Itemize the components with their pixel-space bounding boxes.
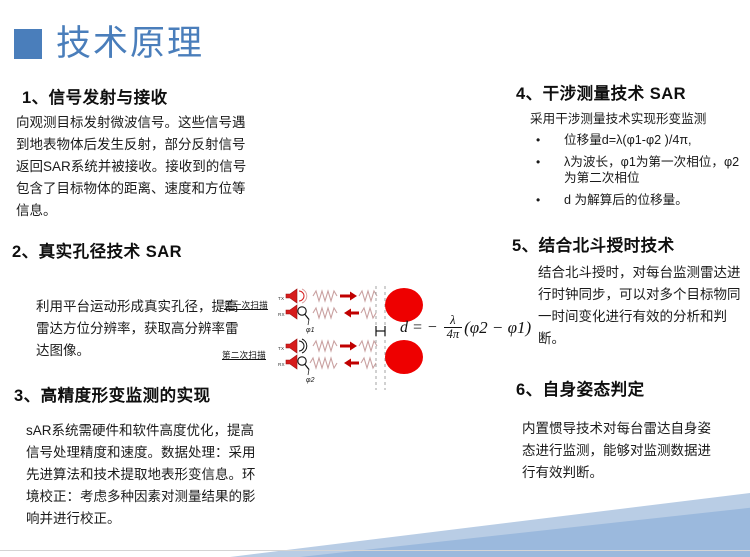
section-body-1: 向观测目标发射微波信号。这些信号遇到地表物体后发生反射，部分反射信号返回SAR系… (16, 112, 252, 222)
tx-speaker-icon-row2 (286, 339, 307, 353)
bullet-dot-icon: • (536, 154, 540, 170)
footer-divider (0, 550, 750, 551)
tx-wave-row1-b (359, 291, 377, 301)
rx-wave-row2 (310, 358, 337, 368)
section-body-5: 结合北斗授时，对每台监测雷达进行时钟同步，可以对多个目标物同一时间变化进行有效的… (538, 262, 744, 350)
rx-wave-row1-b (361, 308, 376, 318)
formula-lhs: d (400, 319, 408, 337)
section-body-6: 内置惯导技术对每台雷达自身姿态进行监测，能够对监测数据进行有效判断。 (522, 418, 722, 484)
rx-arrow-row1 (344, 309, 359, 318)
section-body-4: 采用干涉测量技术实现形变监测 • 位移量d=λ(φ1-φ2 )/4π, • λ为… (530, 110, 742, 214)
list-item: • 位移量d=λ(φ1-φ2 )/4π, (530, 132, 742, 148)
section-heading-6: 6、自身姿态判定 (516, 376, 645, 400)
tx-speaker-icon-row1 (286, 289, 307, 303)
tx-arrow-row1 (340, 292, 357, 301)
formula-fraction: λ 4π (444, 314, 463, 341)
tx-wave-row2 (313, 341, 337, 351)
formula-numerator: λ (447, 314, 458, 327)
section-4-intro: 采用干涉测量技术实现形变监测 (530, 110, 742, 128)
section-heading-4: 4、干涉测量技术 SAR (516, 80, 686, 104)
phase-leader-line-2 (308, 370, 309, 376)
displacement-formula: d = − λ 4π (φ2 − φ1) (400, 314, 531, 341)
tx-wave-row1 (313, 291, 337, 301)
formula-denominator: 4π (444, 327, 463, 341)
list-item: • d 为解算后的位移量。 (530, 192, 742, 208)
section-heading-5: 5、结合北斗授时技术 (512, 232, 675, 256)
interferometry-diagram: 第一次扫描 第二次扫描 TX RX TX RX φ1 φ2 (218, 286, 510, 390)
rx-wave-row2-b (361, 358, 376, 368)
displacement-measure (376, 326, 385, 336)
page-title: 技术原理 (14, 26, 204, 62)
section-heading-2: 2、真实孔径技术 SAR (12, 238, 182, 262)
list-item-label: 位移量d=λ(φ1-φ2 )/4π, (564, 133, 692, 147)
rx-wave-row1 (313, 308, 337, 318)
formula-factor: (φ2 − φ1) (464, 318, 531, 338)
phase-leader-line-1 (308, 320, 309, 326)
target-ellipse-row2 (385, 340, 423, 374)
tx-arrow-row2 (340, 342, 357, 351)
section-heading-1: 1、信号发射与接收 (22, 84, 168, 108)
rx-speaker-icon-row1 (286, 305, 309, 320)
formula-equals: = − (412, 319, 438, 337)
rx-arrow-row2 (344, 359, 359, 368)
section-4-bullet-list: • 位移量d=λ(φ1-φ2 )/4π, • λ为波长，φ1为第一次相位，φ2为… (530, 132, 742, 208)
list-item-label: λ为波长，φ1为第一次相位，φ2为第二次相位 (564, 155, 739, 185)
list-item-label: d 为解算后的位移量。 (564, 193, 688, 207)
list-item: • λ为波长，φ1为第一次相位，φ2为第二次相位 (530, 154, 742, 186)
title-text: 技术原理 (56, 26, 204, 62)
rx-speaker-icon-row2 (286, 355, 309, 370)
section-heading-3: 3、高精度形变监测的实现 (14, 382, 211, 406)
title-accent-square (14, 29, 42, 59)
bullet-dot-icon: • (536, 192, 540, 208)
slide-root: 技术原理 1、信号发射与接收 向观测目标发射微波信号。这些信号遇到地表物体后发生… (0, 0, 750, 557)
section-body-3: sAR系统需硬件和软件高度优化，提高信号处理精度和速度。数据处理：采用先进算法和… (26, 420, 264, 530)
bullet-dot-icon: • (536, 132, 540, 148)
tx-wave-row2-b (359, 341, 377, 351)
